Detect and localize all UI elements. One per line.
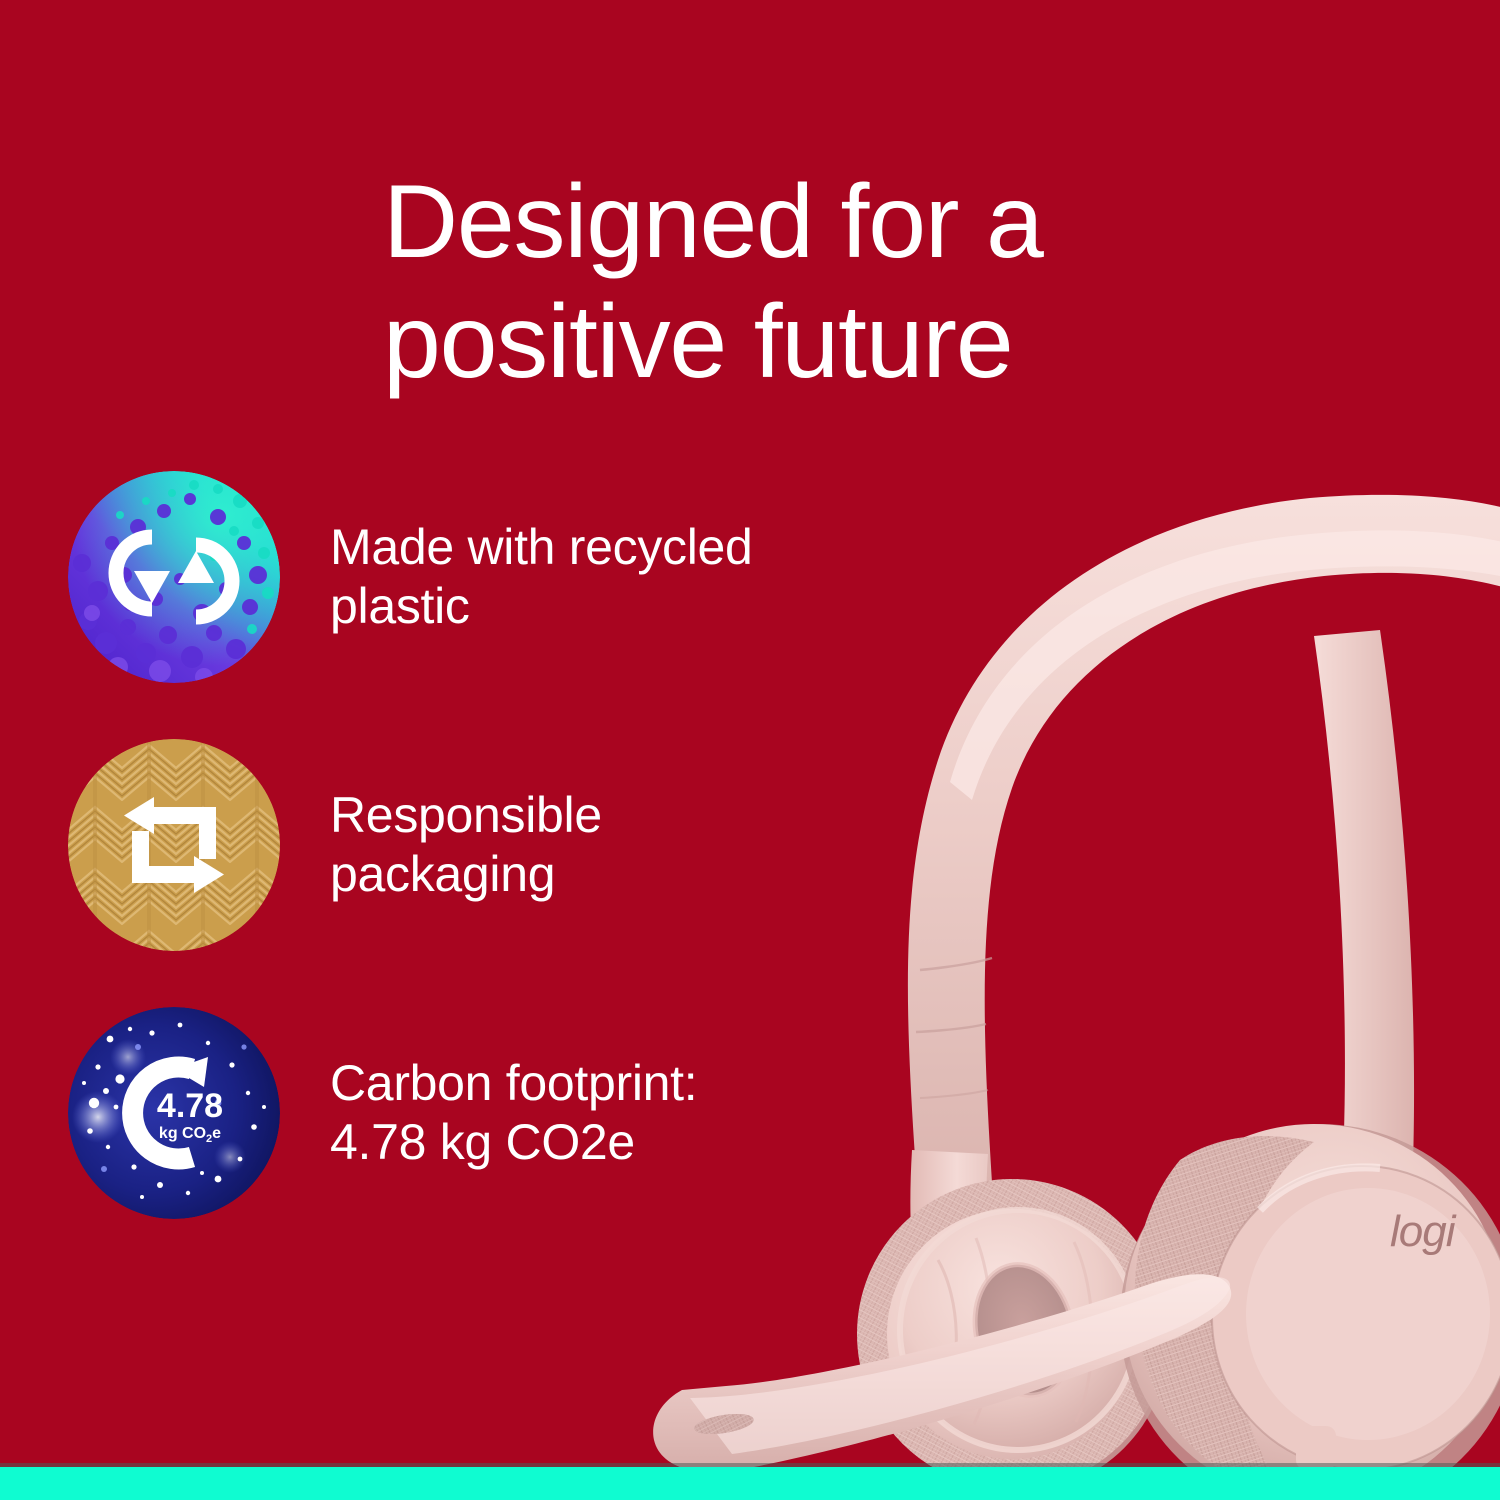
feature-item-carbon-footprint: 4.78 kg CO2e Carbon footprint: 4.78 kg C… [68,1007,848,1219]
feature-item-responsible-packaging: Responsible packaging [68,739,848,951]
feature-label: Made with recycled plastic [330,518,753,636]
feature-label: Carbon footprint: 4.78 kg CO2e [330,1054,697,1172]
carbon-footprint-icon: 4.78 kg CO2e [68,1007,280,1219]
recycled-plastic-icon [68,471,280,683]
product-marketing-banner: Designed for a positive future [0,0,1500,1500]
left-yoke [910,1150,1026,1388]
accent-bar [0,1467,1500,1500]
headband [908,495,1500,1230]
feature-item-recycled-plastic: Made with recycled plastic [68,471,848,683]
mic-grille [693,1410,755,1437]
right-yoke [1256,630,1414,1420]
earcup-mesh [1135,1136,1314,1470]
mic-boom [653,1274,1231,1470]
page-title: Designed for a positive future [383,162,1203,403]
responsible-packaging-icon [68,739,280,951]
brand-logo-logi: logi [1390,1207,1457,1256]
feature-label: Responsible packaging [330,786,602,904]
carbon-value: 4.78 [157,1087,223,1125]
